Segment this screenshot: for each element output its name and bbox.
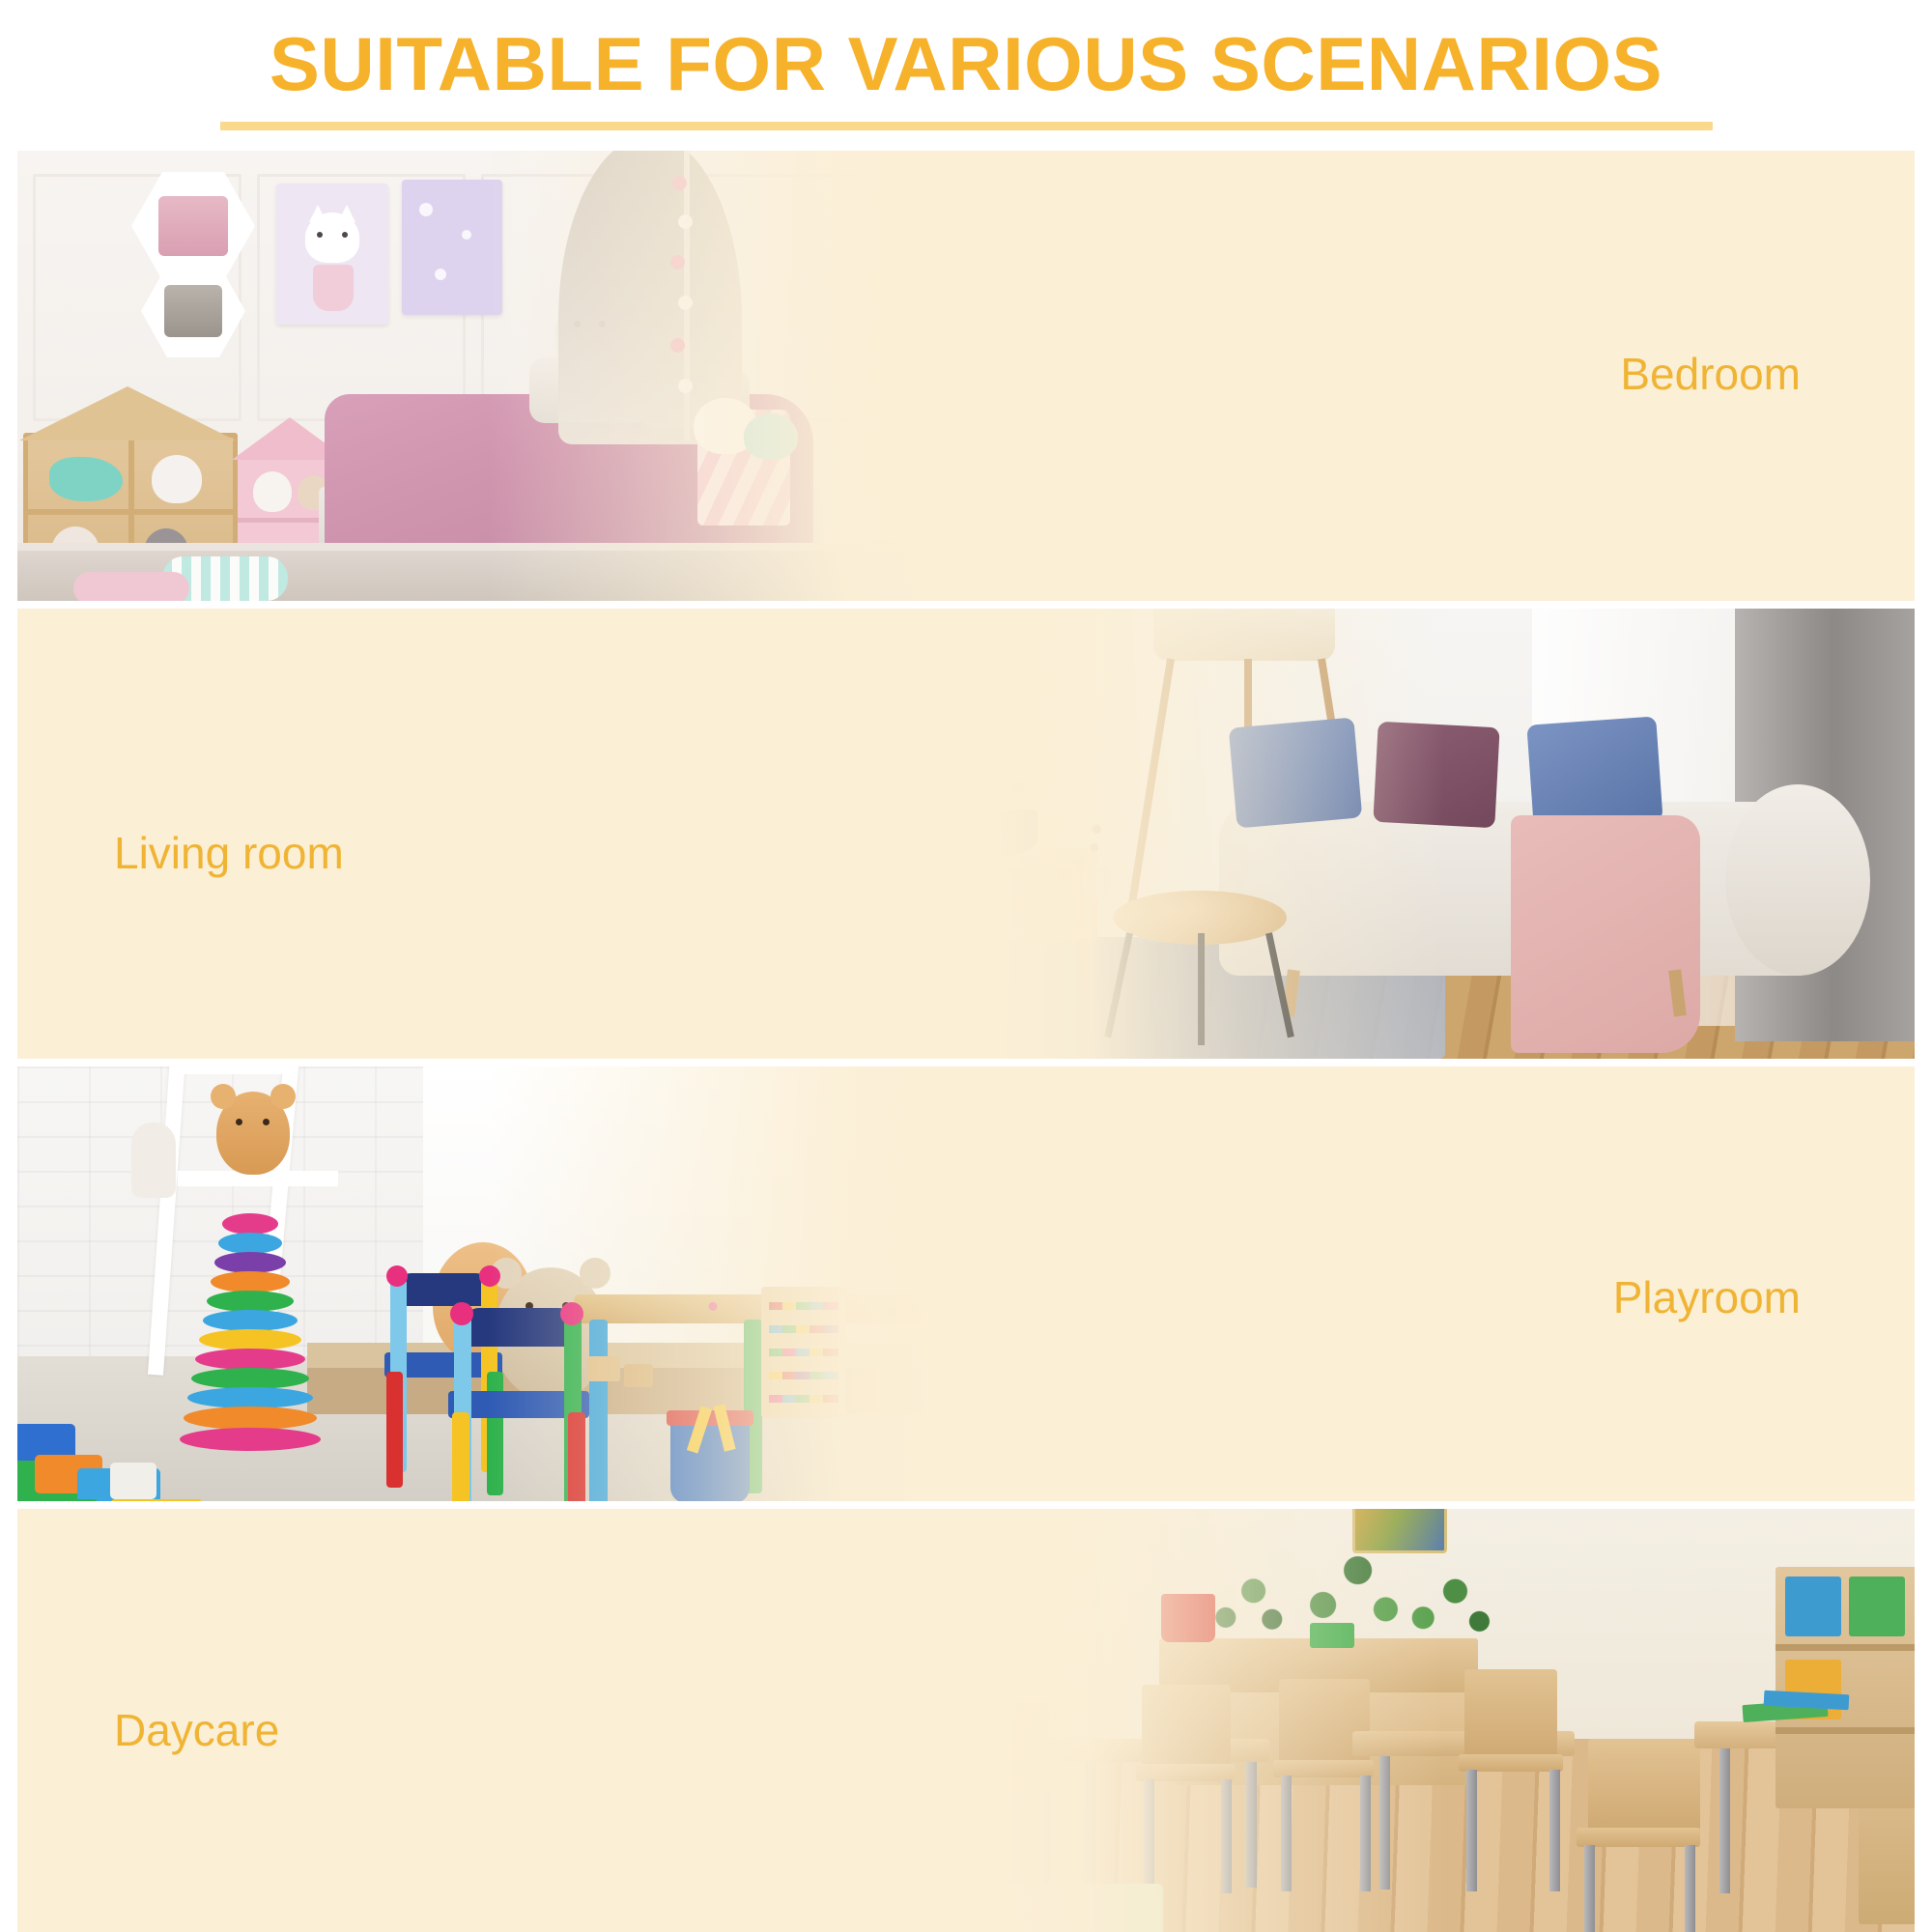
chair-seat: [1577, 1828, 1700, 1847]
chair-back: [396, 1273, 491, 1306]
window-blinds: [945, 162, 1151, 442]
blue-pillow: [1527, 716, 1663, 829]
chair-knob: [479, 1265, 500, 1287]
lamp-shade: [1153, 609, 1335, 661]
stacker-ring: [187, 1387, 313, 1408]
green-tray: [1310, 1623, 1354, 1648]
dried-stems: [1084, 819, 1109, 869]
stacker-ring: [207, 1291, 294, 1312]
panel-label-bedroom: Bedroom: [1620, 352, 1801, 396]
chair-leg: [1281, 1776, 1292, 1891]
stacker-ring: [203, 1310, 298, 1331]
stacker-ring: [199, 1329, 301, 1350]
wire-basket: [806, 798, 910, 848]
kids-chair: [1588, 1739, 1700, 1832]
stacker-ring: [180, 1428, 321, 1451]
chair-back: [464, 1308, 574, 1347]
doll: [131, 1122, 176, 1198]
kids-chair: [966, 1702, 1049, 1781]
potted-plant: [954, 753, 1043, 813]
daycare-scene: [738, 1509, 1915, 1932]
stacker-ring: [195, 1349, 305, 1370]
shelf-plush: [158, 196, 228, 257]
panel-label-playroom: Playroom: [1613, 1275, 1801, 1320]
wall-art-abstract: [402, 180, 502, 315]
bedroom-photo: [17, 151, 1194, 601]
door-handle: [991, 1580, 1005, 1611]
toy-bucket: [670, 1422, 750, 1501]
kids-chair: [777, 1712, 858, 1787]
play-mat: [738, 1884, 1163, 1932]
table-leg: [589, 1320, 608, 1501]
black-plant-pot: [958, 810, 1037, 856]
living-room-scene: [738, 609, 1915, 1059]
stacker-ring: [191, 1368, 309, 1389]
sleepy-eye-cushion: [744, 413, 798, 460]
potted-plant: [1198, 1555, 1291, 1644]
chair-leg: [1685, 1845, 1695, 1932]
books: [929, 860, 1022, 868]
wooden-block: [587, 1356, 620, 1381]
scenario-panel-daycare: Daycare: [17, 1509, 1915, 1932]
stacker-ring: [184, 1406, 317, 1430]
table-leg: [1198, 933, 1205, 1045]
dinosaur-plush: [49, 457, 123, 501]
scenario-panel-living-room: Living room: [17, 609, 1915, 1059]
pink-throw-blanket: [1511, 815, 1700, 1053]
blue-pillow: [1229, 718, 1363, 829]
mauve-pillow: [1374, 722, 1500, 828]
kids-chair: [1142, 1685, 1231, 1768]
scenario-panel-playroom: Playroom: [17, 1066, 1915, 1501]
shelf-plush: [164, 285, 222, 337]
chair-leg: [1144, 1779, 1154, 1893]
wall-picture: [1352, 1509, 1447, 1553]
pink-floor-pillow: [73, 572, 189, 601]
page-header: SUITABLE FOR VARIOUS SCENARIOS: [0, 0, 1932, 147]
chair-knob: [386, 1265, 408, 1287]
chair-leg: [1549, 1770, 1560, 1891]
chair-knob: [450, 1302, 473, 1325]
playroom-photo: [17, 1066, 1194, 1501]
chair-leg: [452, 1412, 469, 1501]
table-leg: [1246, 1762, 1257, 1888]
table-leg: [1719, 1748, 1730, 1893]
foam-block: [110, 1463, 156, 1499]
chair-leg: [386, 1372, 403, 1488]
grey-ottoman: [738, 962, 951, 1059]
abacus: [761, 1287, 846, 1418]
foam-block: [17, 1499, 99, 1501]
title-underline: [220, 122, 1713, 130]
table-leg: [1084, 1762, 1094, 1888]
page-title: SUITABLE FOR VARIOUS SCENARIOS: [0, 19, 1932, 108]
panel-label-daycare: Daycare: [114, 1708, 279, 1752]
chair-knob: [560, 1302, 583, 1325]
table-leg: [869, 1776, 880, 1893]
stacker-ring: [218, 1233, 282, 1254]
unicorn-plush: [152, 455, 202, 503]
wall-art-cat: [276, 184, 388, 325]
ladder-step: [170, 1066, 296, 1074]
stacker-ring: [214, 1252, 286, 1273]
heather-flowers: [798, 753, 920, 804]
living-room-photo: [738, 609, 1915, 1059]
chair-leg: [1221, 1779, 1232, 1893]
scenarios-infographic: SUITABLE FOR VARIOUS SCENARIOS: [0, 0, 1932, 1932]
table-leg: [1010, 1776, 1021, 1893]
teddy-bear: [216, 1092, 290, 1175]
bedroom-scene: [17, 151, 1194, 601]
chair-leg: [1360, 1776, 1371, 1891]
dollhouse-roof: [19, 386, 236, 440]
scenario-panel-bedroom: Bedroom: [17, 151, 1915, 601]
chair-leg: [568, 1412, 585, 1501]
foam-block: [110, 1499, 203, 1501]
table-leg: [970, 1320, 988, 1490]
chair-leg: [1466, 1770, 1477, 1891]
chair-leg: [1584, 1845, 1595, 1932]
panel-label-living-room: Living room: [114, 831, 344, 875]
stacker-ring: [222, 1213, 278, 1235]
wooden-block: [624, 1364, 653, 1387]
sofa-arm: [1725, 784, 1870, 976]
glass-vase: [1082, 867, 1111, 900]
potted-plant: [1393, 1559, 1493, 1648]
playroom-scene: [17, 1066, 1194, 1501]
daycare-photo: [738, 1509, 1915, 1932]
table-leg: [1379, 1756, 1390, 1889]
kids-chair: [1464, 1669, 1557, 1758]
storage-shelf: [1776, 1567, 1915, 1808]
stacker-ring: [211, 1271, 290, 1293]
